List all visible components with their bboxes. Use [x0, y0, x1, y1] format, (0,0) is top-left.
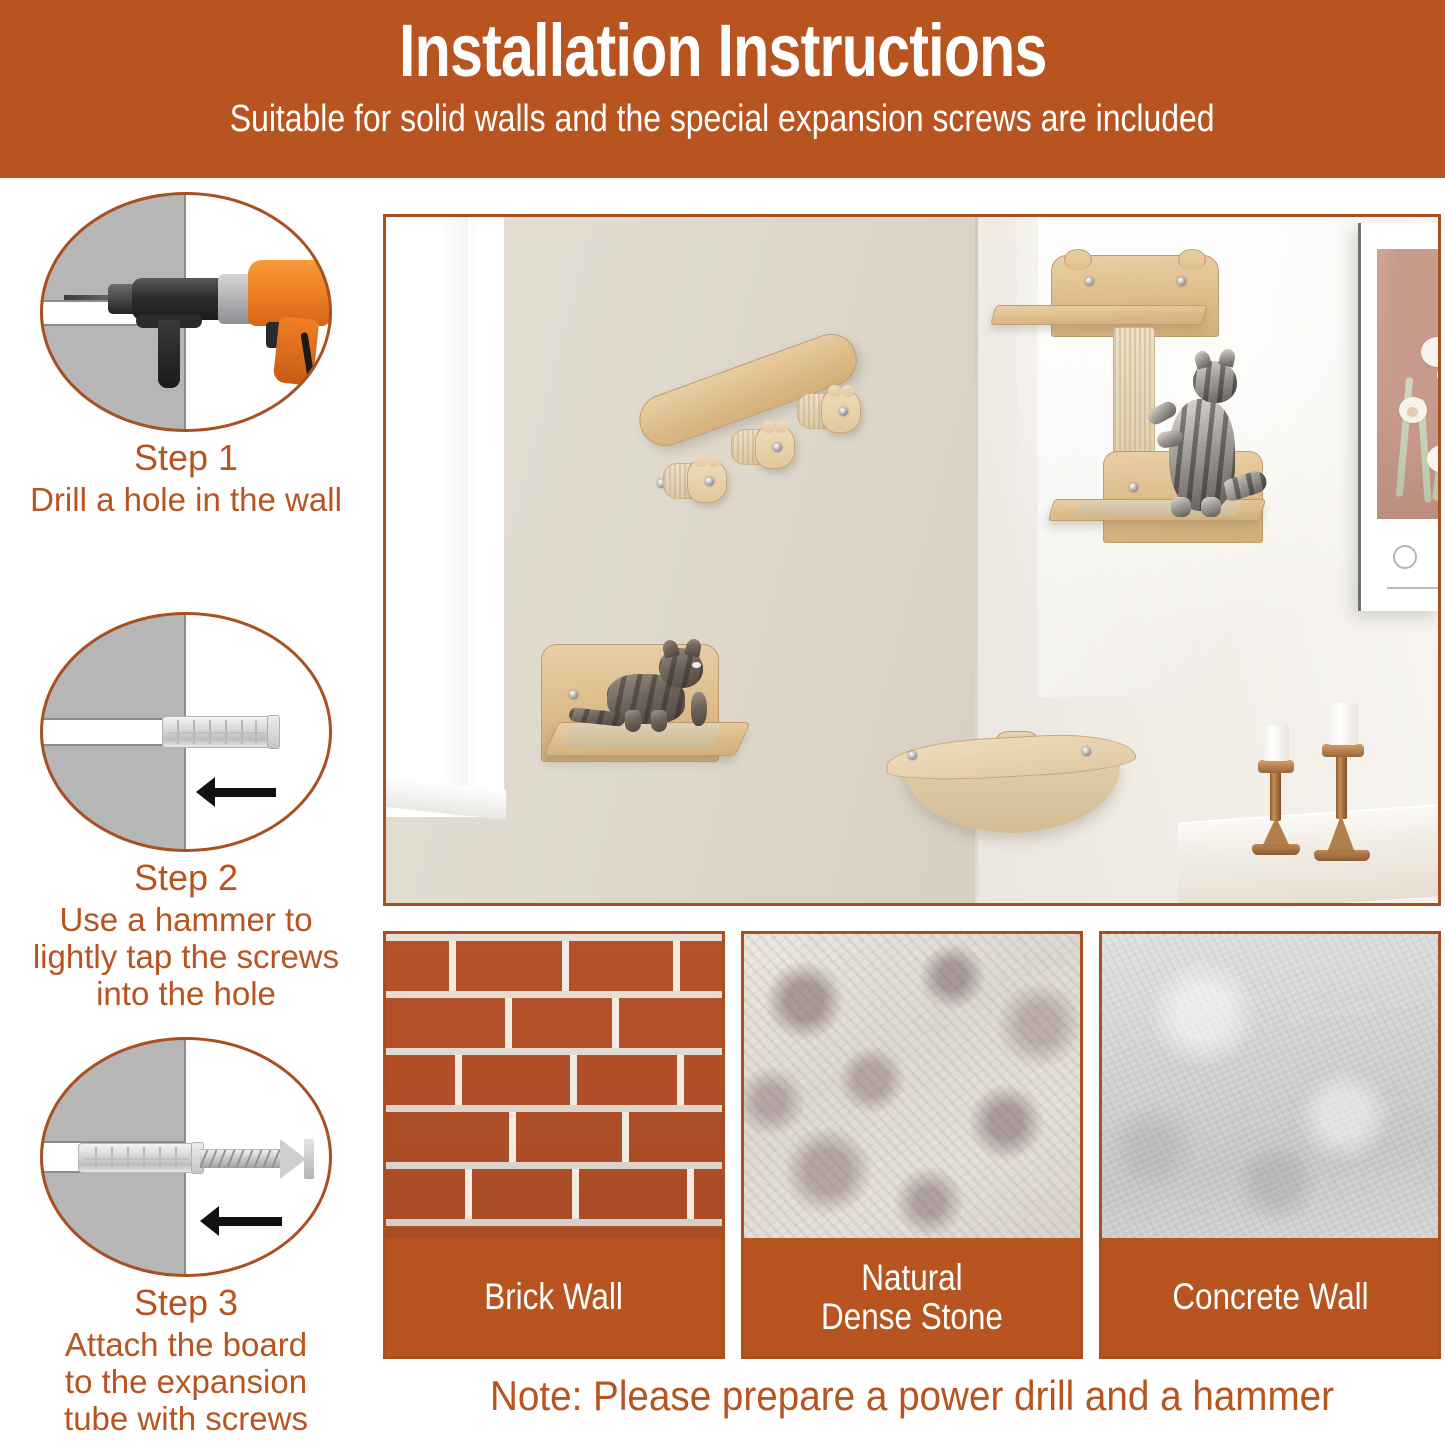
step-1-caption: Step 1 Drill a hole in the wall	[0, 438, 372, 519]
step-2-number: Step 2	[6, 858, 366, 898]
wall-cross-section-3	[40, 1037, 332, 1277]
tabby-kitten-on-shelf	[585, 638, 725, 748]
suitable-wall-materials: Brick Wall Natural Dense Stone Concrete …	[383, 931, 1441, 1359]
art-signature-mark	[1393, 545, 1417, 569]
page-title: Installation Instructions	[399, 14, 1047, 88]
wall-anchor-icon	[78, 1143, 204, 1173]
candlestick-short	[1246, 709, 1306, 855]
window	[386, 217, 504, 817]
step-3-figure	[40, 1037, 332, 1277]
step-3-description: Attach the board to the expansion tube w…	[6, 1327, 366, 1438]
candlestick-tall	[1306, 669, 1376, 861]
step-2-description: Use a hammer to lightly tap the screws i…	[6, 902, 366, 1013]
floral-art-print	[1377, 249, 1441, 519]
step-1-figure	[40, 192, 332, 432]
art-caption-rule	[1387, 587, 1439, 589]
tighten-direction-arrow-icon	[216, 1217, 282, 1226]
ladder-step	[731, 425, 787, 469]
window-sill	[383, 776, 506, 819]
concrete-texture-image	[1102, 934, 1438, 1238]
material-card-concrete: Concrete Wall	[1099, 931, 1441, 1359]
step-block-1: Step 1 Drill a hole in the wall	[0, 192, 372, 612]
material-label-stone: Natural Dense Stone	[744, 1238, 1080, 1356]
steps-column: Step 1 Drill a hole in the wall	[0, 186, 372, 1445]
material-label-concrete: Concrete Wall	[1102, 1238, 1438, 1356]
room-installation-photo	[383, 214, 1441, 906]
stone-texture-image	[744, 934, 1080, 1238]
silver-tabby-cat-on-tree	[1141, 347, 1271, 527]
step-block-2: Step 2 Use a hammer to lightly tap the s…	[0, 612, 372, 1037]
material-label-text: Brick Wall	[485, 1277, 624, 1316]
ladder-step	[663, 459, 719, 503]
cat-tree-top-shelf	[990, 305, 1208, 325]
wall-mounted-cat-tree	[993, 255, 1273, 575]
material-label-text: Concrete Wall	[1172, 1277, 1368, 1316]
wall-cross-section-2	[40, 612, 332, 852]
brick-texture-image	[386, 934, 722, 1238]
material-card-stone: Natural Dense Stone	[741, 931, 1083, 1359]
ladder-step	[797, 389, 853, 433]
step-1-description: Drill a hole in the wall	[6, 482, 366, 519]
material-label-text: Natural Dense Stone	[821, 1258, 1003, 1336]
step-2-figure	[40, 612, 332, 852]
preparation-note: Note: Please prepare a power drill and a…	[425, 1372, 1398, 1420]
step-block-3: Step 3 Attach the board to the expansion…	[0, 1037, 372, 1451]
material-label-brick: Brick Wall	[386, 1238, 722, 1356]
cat-wall-shelf	[541, 644, 741, 794]
insert-direction-arrow-icon	[212, 788, 276, 797]
step-3-caption: Step 3 Attach the board to the expansion…	[0, 1283, 372, 1438]
window-jamb	[442, 217, 468, 817]
material-card-brick: Brick Wall	[383, 931, 725, 1359]
wall-cross-section-1	[40, 192, 332, 432]
step-2-caption: Step 2 Use a hammer to lightly tap the s…	[0, 858, 372, 1013]
cat-wall-hammock	[886, 729, 1136, 841]
cat-climbing-ladder	[641, 377, 871, 577]
framed-wall-art	[1358, 223, 1441, 611]
page-header: Installation Instructions Suitable for s…	[0, 0, 1445, 178]
wall-anchor-icon	[162, 716, 280, 748]
page-subtitle: Suitable for solid walls and the special…	[230, 100, 1215, 138]
step-3-number: Step 3	[6, 1283, 366, 1323]
step-1-number: Step 1	[6, 438, 366, 478]
